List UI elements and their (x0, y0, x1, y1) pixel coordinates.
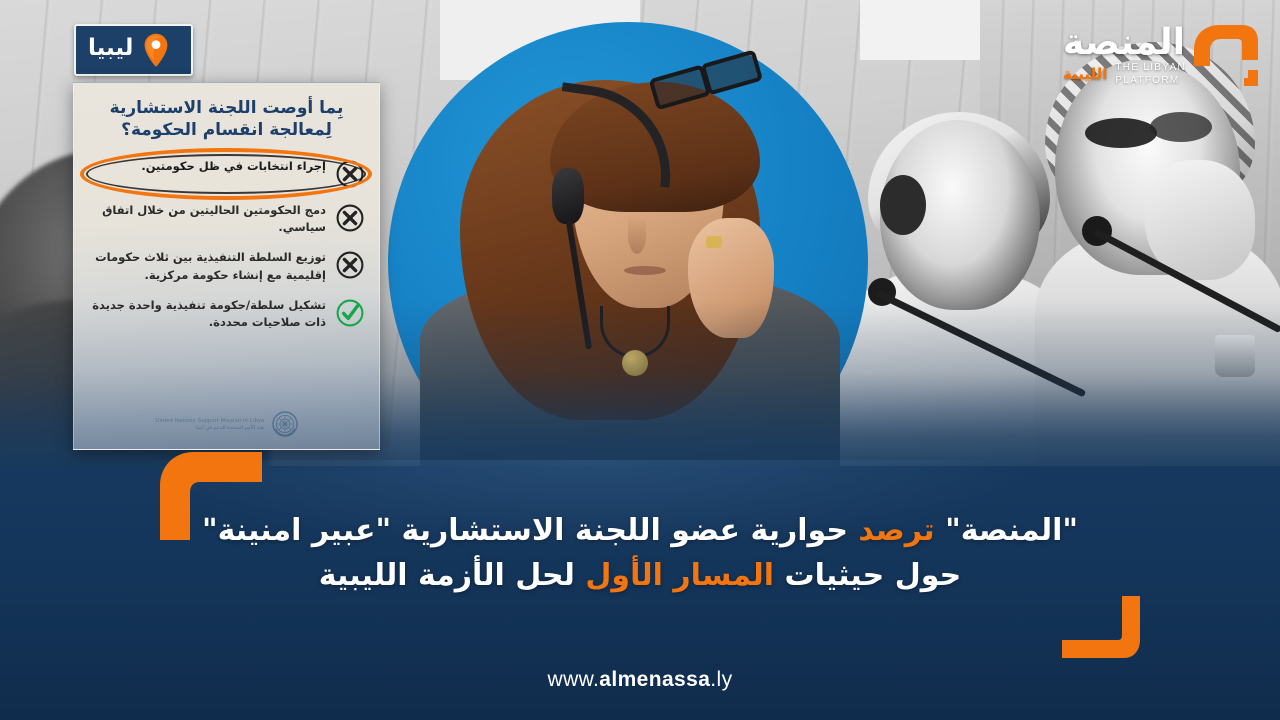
brand-arabic-secondary: الليبية (1063, 67, 1107, 82)
headline-line1-accent: ترصد (858, 513, 934, 548)
infographic-option-text: تشكيل سلطة/حكومة تنفيذية واحدة جديدة ذات… (88, 297, 326, 332)
delegate-two-glasses-icon (1085, 118, 1157, 148)
location-badge[interactable]: ليبيا (74, 24, 193, 76)
speaker-headset-earcup-icon (552, 168, 584, 224)
location-badge-label: ليبيا (88, 37, 133, 63)
background-board-secondary (860, 0, 990, 60)
almenassa-logo-mark-icon (1188, 20, 1262, 92)
unsmil-footer-logo: United Nations Support Mission in Libya … (88, 411, 365, 439)
headline-line-1: "المنصة" ترصد حوارية عضو اللجنة الاستشار… (150, 508, 1130, 553)
headline-block: "المنصة" ترصد حوارية عضو اللجنة الاستشار… (0, 508, 1280, 598)
orange-bracket-bottom-right-icon (1062, 596, 1140, 658)
unsmil-name-arabic: بعثة الأمم المتحدة للدعم في ليبيا (155, 425, 264, 431)
brand-arabic-primary: المنصة (1063, 26, 1185, 60)
infographic-option-text: إجراء انتخابات في ظل حكومتين. (88, 158, 326, 175)
delegate-two-glasses-secondary-icon (1150, 112, 1212, 142)
infographic-option-text: دمج الحكومتين الحاليتين من خلال اتفاق سي… (88, 202, 326, 237)
x-circle-icon (335, 203, 365, 233)
speaker-mouth (624, 266, 666, 275)
website-tld: .ly (710, 668, 732, 691)
brand-subtitle-row: THE LIBYANPLATFORM الليبية (1063, 62, 1186, 87)
unsmil-name-english: United Nations Support Mission in Libya (155, 418, 264, 424)
brand-english-name: THE LIBYANPLATFORM (1115, 62, 1186, 87)
speaker-nose (628, 216, 646, 254)
headline-line2-part1: حول حيثيات (785, 558, 962, 593)
infographic-option-list: إجراء انتخابات في ظل حكومتين. دمج الحكوم… (88, 158, 365, 411)
infographic-option-row: توزيع السلطة التنفيذية بين ثلاث حكومات إ… (88, 249, 365, 284)
infographic-option-row: دمج الحكومتين الحاليتين من خلال اتفاق سي… (88, 202, 365, 237)
unsmil-logo-text: United Nations Support Mission in Libya … (155, 418, 264, 431)
infographic-option-row: تشكيل سلطة/حكومة تنفيذية واحدة جديدة ذات… (88, 297, 365, 332)
website-name: almenassa (599, 668, 710, 691)
speaker-ring (706, 236, 722, 248)
map-pin-icon (143, 33, 169, 67)
social-card-canvas: ليبيا بِما أوصت اللجنة الاستشارية لِمعال… (0, 0, 1280, 720)
headline-line2-accent: المسار الأول (585, 558, 774, 593)
speaker-glasses-icon (649, 49, 762, 104)
headline-line-2: حول حيثيات المسار الأول لحل الأزمة الليب… (150, 553, 1130, 598)
infographic-title: بِما أوصت اللجنة الاستشارية لِمعالجة انق… (88, 97, 365, 142)
website-prefix: www. (548, 668, 600, 691)
almenassa-wordmark: المنصة THE LIBYANPLATFORM الليبية (1063, 26, 1186, 87)
headline-line1-part2: حوارية عضو اللجنة الاستشارية "عبير امنين… (202, 513, 848, 548)
almenassa-brand-logo[interactable]: المنصة THE LIBYANPLATFORM الليبية (1026, 14, 1262, 98)
un-emblem-icon (272, 411, 298, 437)
website-url[interactable]: www.almenassa.ly (0, 668, 1280, 692)
delegate-one-headset-icon (880, 175, 926, 235)
x-circle-icon (335, 159, 365, 189)
x-circle-icon (335, 250, 365, 280)
infographic-option-row: إجراء انتخابات في ظل حكومتين. (88, 158, 365, 189)
unsmil-infographic-card: بِما أوصت اللجنة الاستشارية لِمعالجة انق… (73, 82, 380, 450)
infographic-option-text: توزيع السلطة التنفيذية بين ثلاث حكومات إ… (88, 249, 326, 284)
headline-line2-part2: لحل الأزمة الليبية (319, 558, 575, 593)
headline-line1-part1: "المنصة" (945, 513, 1078, 548)
check-circle-icon (335, 298, 365, 328)
